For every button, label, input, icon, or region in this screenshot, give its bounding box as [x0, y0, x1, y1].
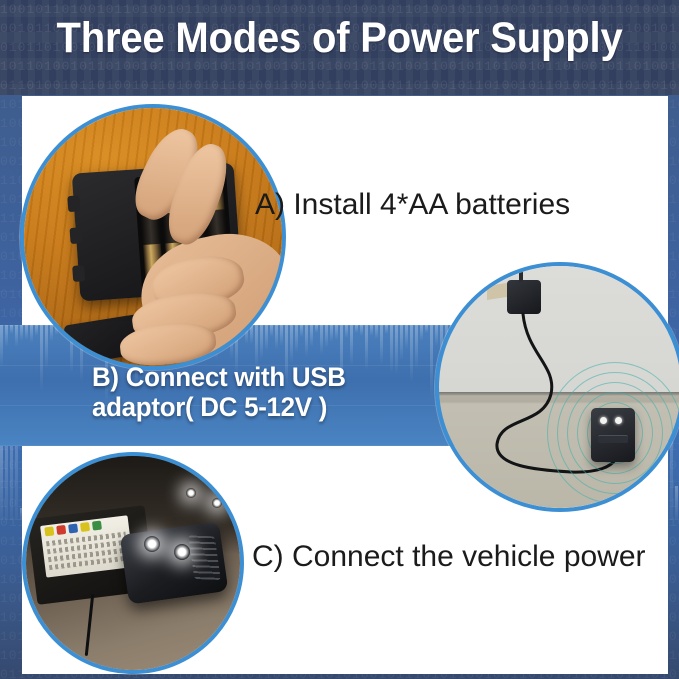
led-flash [174, 544, 190, 560]
led-flash [144, 536, 160, 552]
warning-icon [56, 525, 66, 535]
led-indicator [615, 417, 622, 424]
battery-install-photo[interactable] [20, 104, 286, 370]
warning-icon [80, 522, 90, 532]
led-flash [212, 498, 222, 508]
warning-icon [44, 526, 54, 536]
device-fins [188, 535, 221, 579]
step-b-label-line1: B) Connect with USB [92, 362, 346, 392]
photo-a-image [24, 108, 282, 366]
warning-icon [68, 523, 78, 533]
page-title: Three Modes of Power Supply [24, 14, 655, 63]
case-tab [67, 195, 80, 212]
detector-device [591, 408, 635, 462]
power-cable [85, 594, 94, 656]
poster-canvas: 0110010010101001011100101101000101010010… [0, 0, 679, 679]
usb-adaptor-photo[interactable] [435, 262, 679, 512]
battery-label [40, 515, 134, 577]
detector-device [120, 521, 229, 604]
device-vent [598, 435, 628, 443]
case-tab [70, 227, 83, 244]
step-b-label-line2: adaptor( DC 5-12V ) [92, 392, 346, 422]
step-a-label: A) Install 4*AA batteries [255, 188, 570, 222]
case-tab [72, 265, 85, 282]
step-b-label: B) Connect with USB adaptor( DC 5-12V ) [92, 362, 346, 422]
step-c-label: C) Connect the vehicle power [252, 540, 646, 574]
led-flash [186, 488, 196, 498]
photo-c-image [26, 456, 240, 670]
vehicle-power-photo[interactable] [22, 452, 244, 674]
warning-icon [92, 521, 102, 531]
photo-b-image [439, 266, 679, 508]
led-indicator [600, 417, 607, 424]
